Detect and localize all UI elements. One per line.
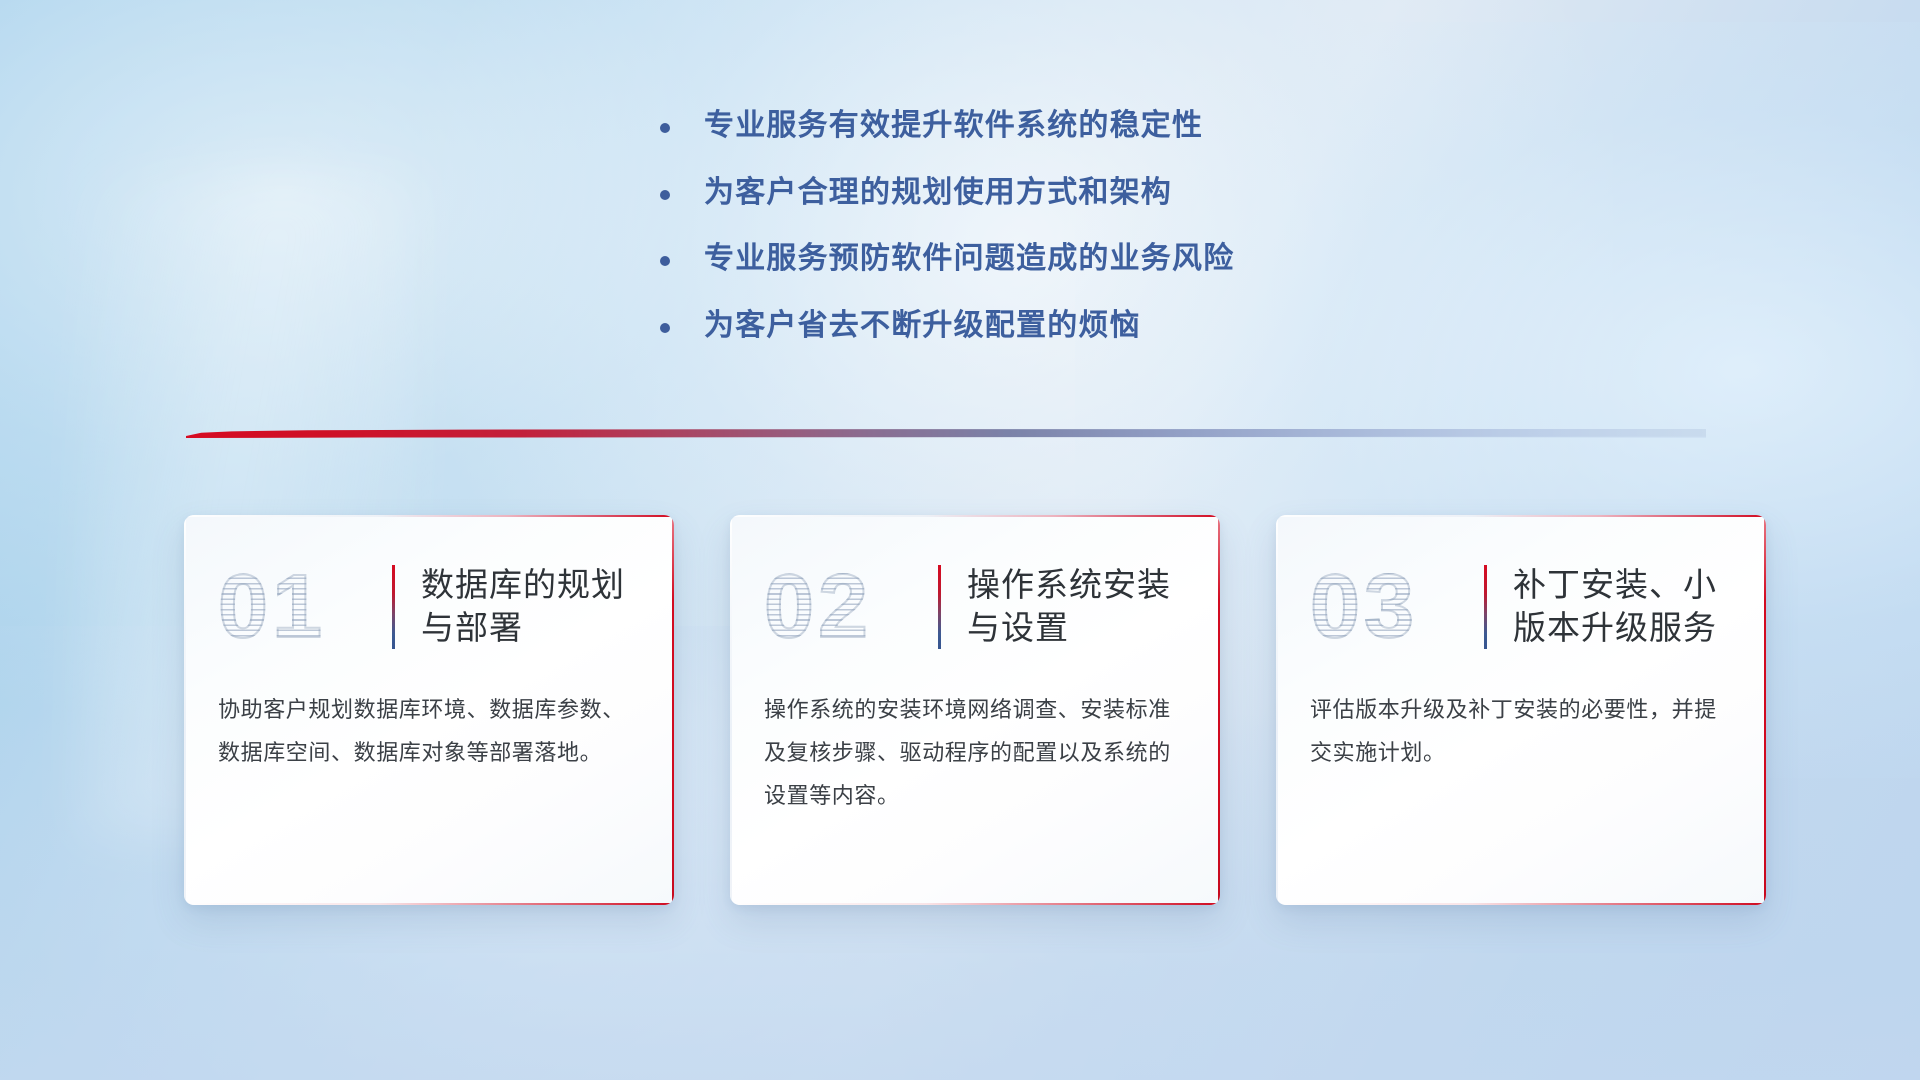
bullet-dot-icon — [660, 123, 670, 133]
card-header: 03 补丁安装、小版本升级服务 — [1276, 515, 1766, 665]
bullet-dot-icon — [660, 256, 670, 266]
card-description: 评估版本升级及补丁安装的必要性，并提交实施计划。 — [1276, 665, 1766, 775]
divider-fade-overlay — [186, 429, 1706, 438]
card-divider-rule — [1484, 565, 1487, 649]
card-description: 协助客户规划数据库环境、数据库参数、数据库空间、数据库对象等部署落地。 — [184, 665, 674, 775]
list-item: 专业服务预防软件问题造成的业务风险 — [660, 241, 1480, 278]
card-bottom-accent-line — [1276, 903, 1766, 906]
service-card-01[interactable]: 01 数据库的规划与部署 协助客户规划数据库环境、数据库参数、数据库空间、数据库… — [184, 515, 674, 905]
card-header: 01 数据库的规划与部署 — [184, 515, 674, 665]
card-bottom-accent-line — [730, 903, 1220, 906]
card-divider-rule — [938, 565, 941, 649]
service-card-group: 01 数据库的规划与部署 协助客户规划数据库环境、数据库参数、数据库空间、数据库… — [184, 515, 1766, 905]
bullet-dot-icon — [660, 190, 670, 200]
bullet-text: 为客户省去不断升级配置的烦恼 — [704, 308, 1141, 345]
card-number: 02 — [764, 562, 934, 652]
list-item: 为客户合理的规划使用方式和架构 — [660, 175, 1480, 212]
card-number: 03 — [1310, 562, 1480, 652]
card-title: 补丁安装、小版本升级服务 — [1513, 564, 1738, 650]
bullet-text: 专业服务有效提升软件系统的稳定性 — [704, 108, 1203, 145]
card-header: 02 操作系统安装与设置 — [730, 515, 1220, 665]
list-item: 专业服务有效提升软件系统的稳定性 — [660, 108, 1480, 145]
card-divider-rule — [392, 565, 395, 649]
bullet-text: 为客户合理的规划使用方式和架构 — [704, 175, 1172, 212]
card-description: 操作系统的安装环境网络调查、安装标准及复核步骤、驱动程序的配置以及系统的设置等内… — [730, 665, 1220, 818]
card-title: 操作系统安装与设置 — [967, 564, 1192, 650]
card-title: 数据库的规划与部署 — [421, 564, 646, 650]
benefits-bullet-list: 专业服务有效提升软件系统的稳定性 为客户合理的规划使用方式和架构 专业服务预防软… — [660, 108, 1480, 374]
card-bottom-accent-line — [184, 903, 674, 906]
bullet-text: 专业服务预防软件问题造成的业务风险 — [704, 241, 1234, 278]
service-card-03[interactable]: 03 补丁安装、小版本升级服务 评估版本升级及补丁安装的必要性，并提交实施计划。 — [1276, 515, 1766, 905]
service-card-02[interactable]: 02 操作系统安装与设置 操作系统的安装环境网络调查、安装标准及复核步骤、驱动程… — [730, 515, 1220, 905]
bullet-dot-icon — [660, 323, 670, 333]
card-number: 01 — [218, 562, 388, 652]
list-item: 为客户省去不断升级配置的烦恼 — [660, 308, 1480, 345]
section-divider — [186, 429, 1706, 438]
